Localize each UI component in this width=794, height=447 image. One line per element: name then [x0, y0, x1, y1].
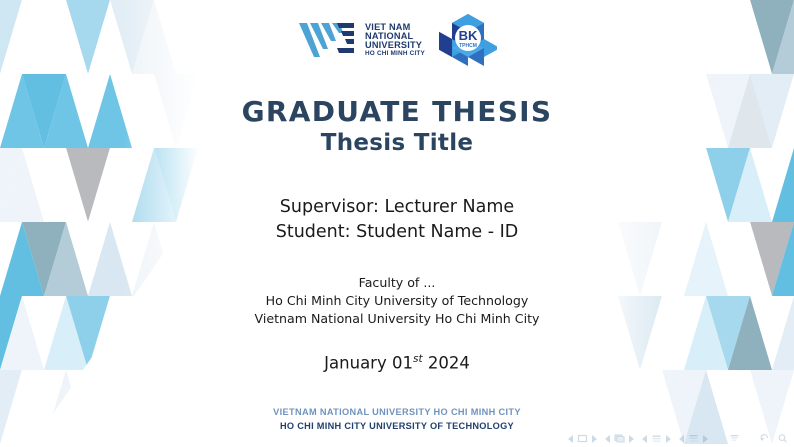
slide-icon[interactable] [577, 433, 588, 444]
vnu-logo-text: VIET NAM NATIONAL UNIVERSITY HO CHI MINH… [365, 23, 425, 58]
subsection-icon[interactable] [651, 433, 662, 444]
page-subtitle: Thesis Title [242, 129, 553, 158]
subsection-prev-icon[interactable] [641, 434, 649, 444]
nav-group-section[interactable] [678, 433, 709, 444]
university-line: Ho Chi Minh City University of Technolog… [255, 292, 540, 310]
presentation-icon[interactable] [729, 433, 740, 444]
search-icon[interactable] [777, 433, 788, 444]
bk-hexagon-logo-icon: BK TPHCM [439, 13, 497, 67]
footer-line-1: VIETNAM NATIONAL UNIVERSITY HO CHI MINH … [0, 406, 794, 420]
vnu-logo: VIET NAM NATIONAL UNIVERSITY HO CHI MINH… [297, 19, 425, 61]
nav-group-slide[interactable] [567, 433, 598, 444]
date-ordinal: st [413, 353, 423, 365]
beamer-navigation-bar[interactable] [567, 433, 788, 444]
footer-line-2: HO CHI MINH CITY UNIVERSITY OF TECHNOLOG… [0, 420, 794, 434]
bk-initials: BK [459, 28, 478, 43]
subsection-next-icon[interactable] [664, 434, 672, 444]
date-day: 01 [392, 354, 413, 373]
frame-next-icon[interactable] [627, 434, 635, 444]
faculty-line: Faculty of ... [255, 274, 540, 292]
affiliation-block: Faculty of ... Ho Chi Minh City Universi… [255, 274, 540, 328]
parent-university-line: Vietnam National University Ho Chi Minh … [255, 310, 540, 328]
title-slide: VIET NAM NATIONAL UNIVERSITY HO CHI MINH… [0, 0, 794, 447]
section-icon[interactable] [688, 433, 699, 444]
vnu-wave-mark-icon [297, 19, 359, 61]
section-next-icon[interactable] [701, 434, 709, 444]
slide-next-icon[interactable] [590, 434, 598, 444]
frame-prev-icon[interactable] [604, 434, 612, 444]
vnu-line-4: HO CHI MINH CITY [365, 51, 425, 58]
nav-group-frame[interactable] [604, 433, 635, 444]
date-year: 2024 [428, 354, 470, 373]
page-title: GRADUATE THESIS [242, 96, 553, 127]
section-prev-icon[interactable] [678, 434, 686, 444]
student-line: Student: Student Name - ID [276, 220, 519, 245]
back-icon[interactable] [760, 433, 771, 444]
frame-icon[interactable] [614, 433, 625, 444]
logo-row: VIET NAM NATIONAL UNIVERSITY HO CHI MINH… [297, 11, 497, 69]
bk-subtext: TPHCM [459, 43, 477, 49]
date-line: January 01st 2024 [324, 353, 470, 373]
supervisor-line: Supervisor: Lecturer Name [276, 195, 519, 220]
people-block: Supervisor: Lecturer Name Student: Stude… [276, 195, 519, 246]
date-month: January [324, 354, 387, 373]
slide-prev-icon[interactable] [567, 434, 575, 444]
nav-group-subsection[interactable] [641, 433, 672, 444]
title-block: GRADUATE THESIS Thesis Title [242, 96, 553, 158]
footer: VIETNAM NATIONAL UNIVERSITY HO CHI MINH … [0, 406, 794, 434]
